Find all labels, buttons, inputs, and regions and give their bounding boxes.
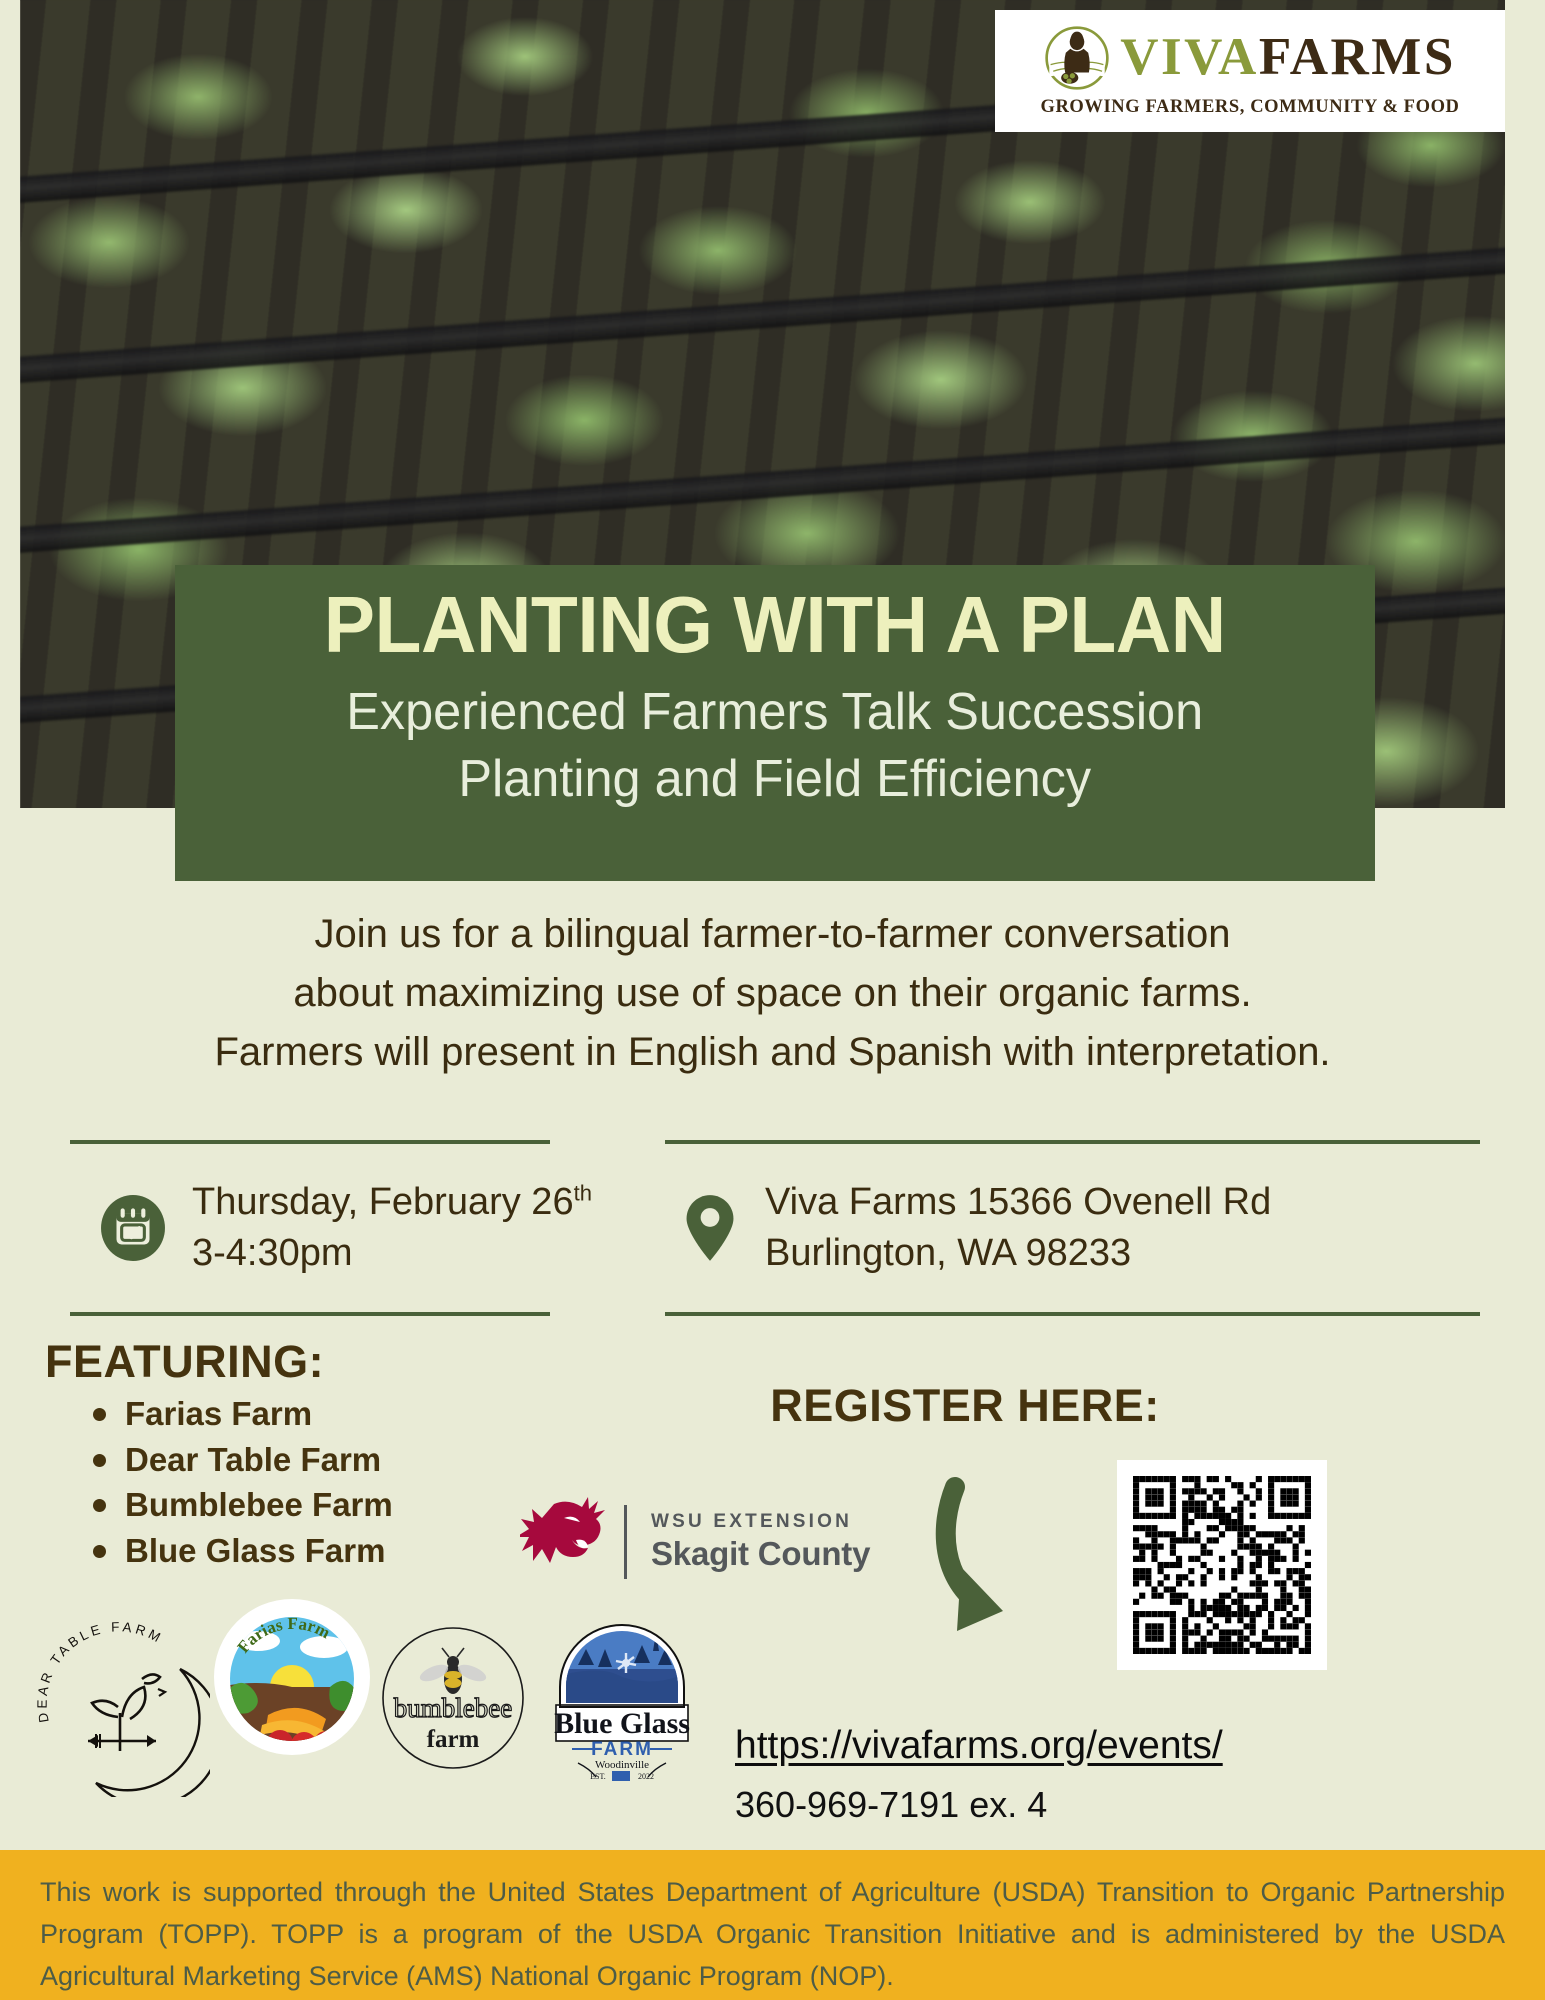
curved-arrow-down-right-icon	[935, 1475, 1095, 1645]
logo-word-farms: FARMS	[1259, 28, 1456, 86]
usda-funding-footer: This work is supported through the Unite…	[0, 1850, 1545, 2000]
svg-text:Woodinville: Woodinville	[595, 1759, 649, 1771]
event-address-text: Viva Farms 15366 Ovenell Rd Burlington, …	[765, 1177, 1271, 1278]
farmer-in-field-icon	[1044, 25, 1110, 91]
intro-line-1: Join us for a bilingual farmer-to-farmer…	[0, 905, 1545, 964]
intro-line-3: Farmers will present in English and Span…	[0, 1023, 1545, 1082]
event-location-card: Viva Farms 15366 Ovenell Rd Burlington, …	[665, 1140, 1480, 1340]
svg-text:farm: farm	[427, 1726, 480, 1753]
wsu-extension-label: WSU EXTENSION	[651, 1511, 870, 1533]
featuring-heading: FEATURING:	[45, 1336, 665, 1388]
calendar-check-icon	[100, 1195, 166, 1261]
address-line-2: Burlington, WA 98233	[765, 1228, 1271, 1279]
partner-logos-row: DEAR TABLE FARM	[20, 1595, 720, 1825]
svg-text:FARM: FARM	[591, 1739, 653, 1760]
logo-word-viva: VIVA	[1120, 28, 1259, 86]
divider-bottom	[70, 1312, 550, 1316]
bumblebee-farm-logo: bumblebee farm	[380, 1625, 526, 1771]
list-item: Farias Farm	[87, 1394, 665, 1434]
blue-glass-farm-logo: Blue Glass FARM Woodinville EST. 2022	[538, 1613, 706, 1781]
event-info-row: Thursday, February 26th 3-4:30pm Viva Fa…	[0, 1140, 1545, 1340]
page-title: PLANTING WITH A PLAN	[324, 583, 1226, 667]
wsu-county-label: Skagit County	[651, 1535, 870, 1573]
address-line-1: Viva Farms 15366 Ovenell Rd	[765, 1177, 1271, 1228]
event-date-text: Thursday, February 26th 3-4:30pm	[192, 1177, 592, 1278]
wsu-cougar-head-icon	[520, 1488, 610, 1596]
register-heading: REGISTER HERE:	[665, 1380, 1265, 1432]
event-date-card: Thursday, February 26th 3-4:30pm	[70, 1140, 550, 1340]
svg-text:Blue Glass: Blue Glass	[554, 1707, 690, 1740]
dear-table-farm-logo: DEAR TABLE FARM	[30, 1617, 210, 1797]
intro-line-2: about maximizing use of space on their o…	[0, 964, 1545, 1023]
intro-paragraph: Join us for a bilingual farmer-to-farmer…	[0, 905, 1545, 1083]
footer-text: This work is supported through the Unite…	[40, 1872, 1505, 1998]
svg-text:bumblebee: bumblebee	[394, 1693, 512, 1723]
wsu-divider	[624, 1505, 627, 1579]
event-date: Thursday, February 26	[192, 1181, 574, 1223]
flyer-page: VIVAFARMS GROWING FARMERS, COMMUNITY & F…	[0, 0, 1545, 2000]
title-banner: PLANTING WITH A PLAN Experienced Farmers…	[175, 565, 1375, 881]
map-pin-icon	[683, 1194, 737, 1262]
page-subtitle: Experienced Farmers Talk Succession Plan…	[347, 679, 1204, 812]
subtitle-line-2: Planting and Field Efficiency	[459, 750, 1092, 808]
event-time: 3-4:30pm	[192, 1228, 592, 1279]
subtitle-line-1: Experienced Farmers Talk Succession	[347, 683, 1204, 741]
viva-farms-logo: VIVAFARMS GROWING FARMERS, COMMUNITY & F…	[995, 10, 1505, 132]
wsu-extension-logo: WSU EXTENSION Skagit County	[520, 1488, 870, 1596]
logo-tagline: GROWING FARMERS, COMMUNITY & FOOD	[1040, 97, 1459, 118]
list-item: Dear Table Farm	[87, 1440, 665, 1480]
contact-phone: 360-969-7191 ex. 4	[735, 1784, 1495, 1826]
svg-text:DEAR TABLE FARM: DEAR TABLE FARM	[35, 1619, 166, 1723]
divider-bottom	[665, 1312, 1480, 1316]
date-ordinal: th	[574, 1181, 592, 1206]
farias-farm-logo: Farias Farm	[218, 1603, 366, 1751]
registration-url-link[interactable]: https://vivafarms.org/events/	[735, 1724, 1495, 1768]
qr-code-icon[interactable]	[1117, 1460, 1327, 1670]
